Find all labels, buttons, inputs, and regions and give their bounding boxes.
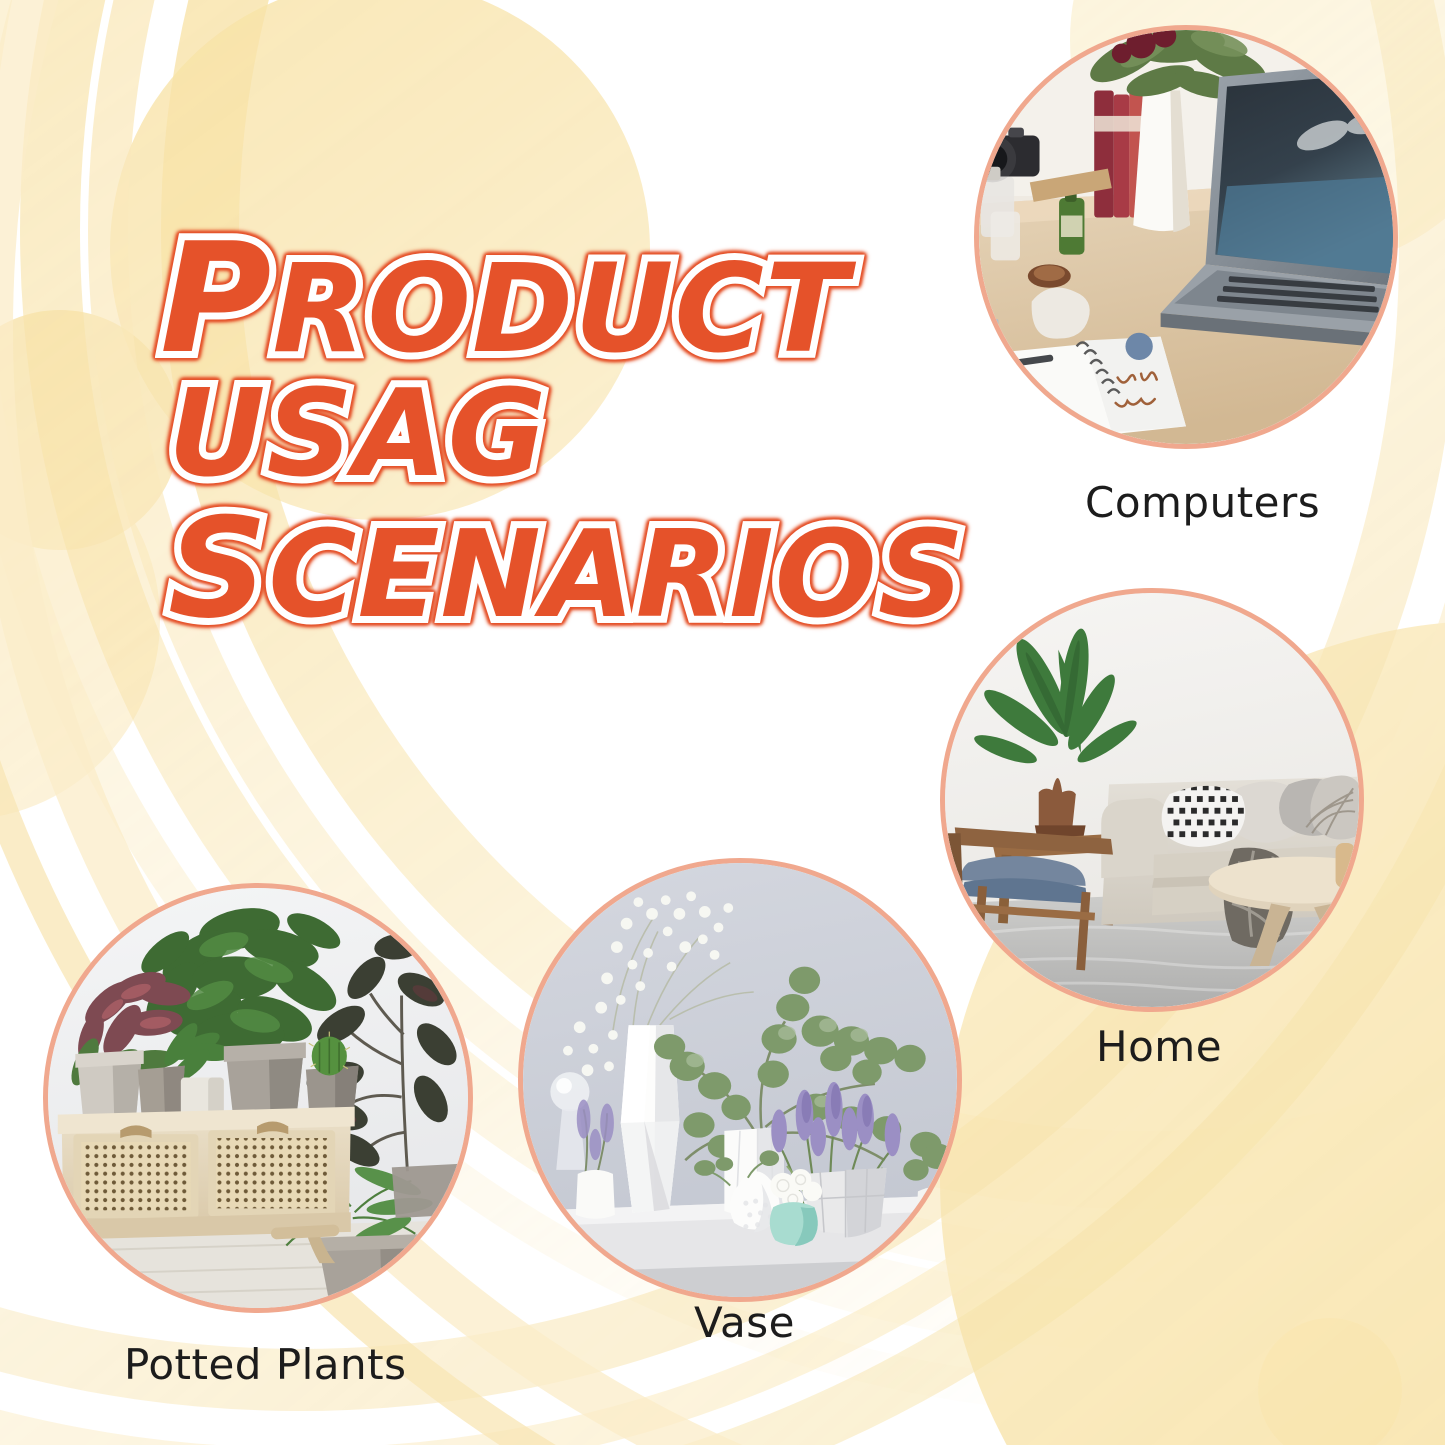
title-line-2: USAG: [168, 379, 920, 491]
scenario-photo-potted-plants: [43, 883, 473, 1313]
scenario-photo-vase: [518, 858, 962, 1302]
title-line-3: SCENARIOS: [168, 505, 920, 633]
infographic-canvas: PRODUCT USAG SCENARIOS: [0, 0, 1445, 1445]
scenario-photo-home: [940, 588, 1364, 1012]
label-potted-plants: Potted Plants: [124, 1340, 407, 1389]
photo-home-living-room: [945, 593, 1359, 1007]
title-line-3-capital: S: [168, 488, 268, 649]
label-vase: Vase: [694, 1298, 795, 1347]
photo-computers-desk-workspace: [979, 30, 1393, 444]
title-line-3-rest: CENARIOS: [268, 506, 965, 645]
title-line-1-capital: P: [160, 210, 272, 387]
page-title: PRODUCT USAG SCENARIOS: [160, 228, 920, 633]
scenario-photo-computers: [974, 25, 1398, 449]
photo-potted-plants-cabinet: [48, 888, 468, 1308]
title-line-1-rest: RODUCT: [272, 238, 849, 380]
label-computers: Computers: [1085, 478, 1320, 527]
photo-vase-still-life: [523, 863, 957, 1297]
title-line-1: PRODUCT: [160, 228, 920, 369]
label-home: Home: [1096, 1022, 1222, 1071]
